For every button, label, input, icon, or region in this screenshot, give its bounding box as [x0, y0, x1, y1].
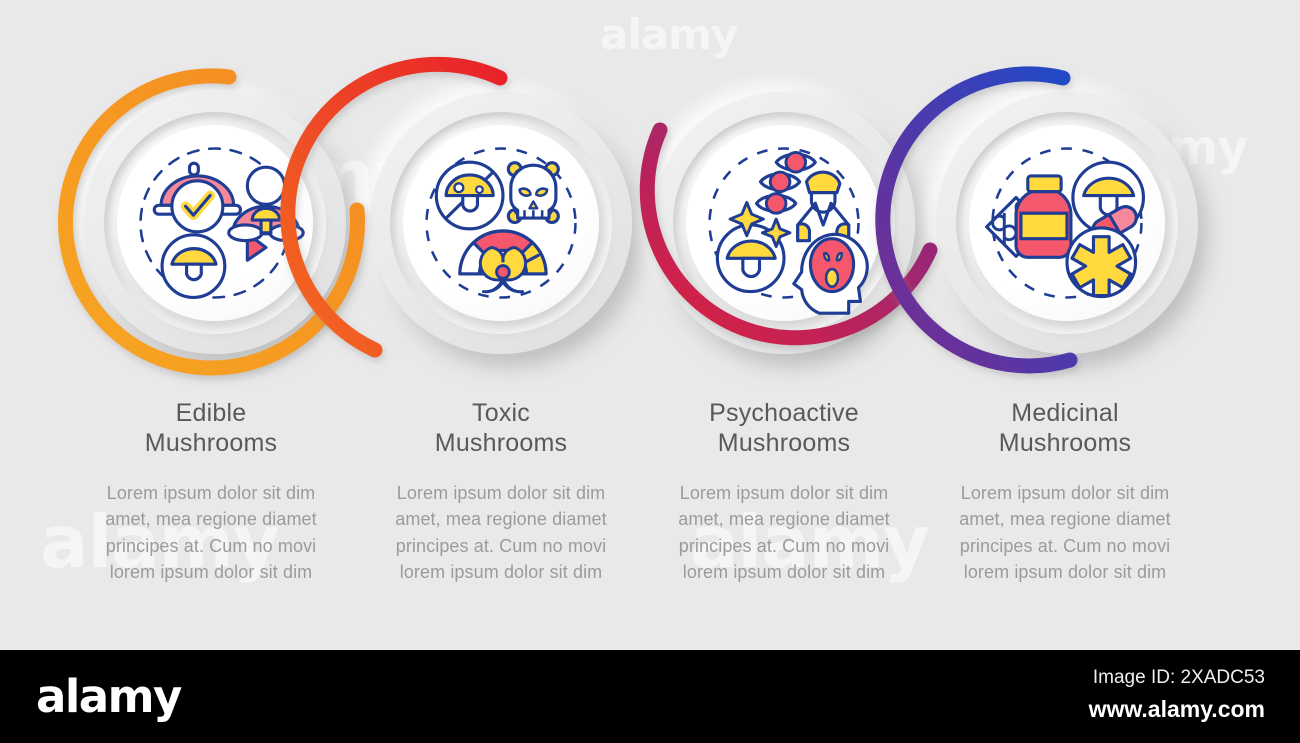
step-node-3[interactable] [653, 92, 915, 354]
step-body: Lorem ipsum dolor sit dim amet, mea regi… [940, 480, 1190, 586]
psychoactive-mushrooms-icon [686, 125, 882, 321]
step-node-1[interactable] [84, 92, 346, 354]
step-node-4[interactable] [936, 92, 1198, 354]
step-body: Lorem ipsum dolor sit dim amet, mea regi… [659, 480, 909, 586]
step-body: Lorem ipsum dolor sit dim amet, mea regi… [86, 480, 336, 586]
infographic-diagram: Edible Mushrooms Lorem ipsum dolor sit d… [0, 0, 1300, 650]
sparkling-mushroom-icon [717, 202, 790, 291]
step-caption-1: Edible Mushrooms Lorem ipsum dolor sit d… [86, 398, 336, 586]
medical-star-icon [1067, 228, 1136, 297]
tripping-person-icon [798, 172, 849, 240]
no-mushroom-icon [436, 162, 503, 229]
mushroom-in-circle-icon [162, 235, 225, 298]
medicinal-mushrooms-icon [969, 125, 1165, 321]
step-body: Lorem ipsum dolor sit dim amet, mea regi… [376, 480, 626, 586]
step-title: Toxic Mushrooms [376, 398, 626, 458]
biohazard-icon [480, 248, 525, 292]
supplement-bottle-icon [1016, 176, 1071, 257]
infographic-screenshot: alamy alamy alamy alamy alamy alamy [0, 0, 1300, 743]
step-caption-4: Medicinal Mushrooms Lorem ipsum dolor si… [940, 398, 1190, 586]
step-caption-2: Toxic Mushrooms Lorem ipsum dolor sit di… [376, 398, 626, 586]
alamy-url: www.alamy.com [1089, 696, 1265, 723]
alamy-logo: alamy [36, 674, 181, 719]
step-title: Medicinal Mushrooms [940, 398, 1190, 458]
check-mark-icon [172, 181, 223, 232]
toxic-mushrooms-icon [403, 125, 599, 321]
step-caption-3: Psychoactive Mushrooms Lorem ipsum dolor… [659, 398, 909, 586]
screaming-head-icon [794, 234, 867, 313]
image-id-label: Image ID: 2XADC53 [1093, 667, 1265, 689]
skull-crossbones-icon [508, 163, 558, 223]
step-title: Edible Mushrooms [86, 398, 336, 458]
edible-mushrooms-icon [117, 125, 313, 321]
step-title: Psychoactive Mushrooms [659, 398, 909, 458]
alamy-footer-bar: alamy Image ID: 2XADC53 www.alamy.com [0, 650, 1300, 743]
step-node-2[interactable] [370, 92, 632, 354]
